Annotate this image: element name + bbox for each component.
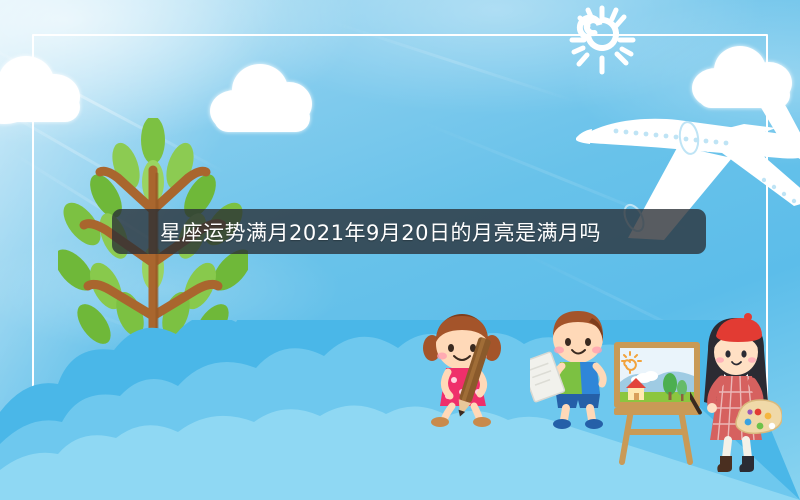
page-title: 星座运势满月2021年9月20日的月亮是满月吗: [112, 217, 601, 247]
illustration-banner: 星座运势满月2021年9月20日的月亮是满月吗: [0, 0, 800, 500]
girl-with-pencil: [418, 306, 510, 428]
girl-painter: [690, 310, 782, 478]
title-overlay-bar: 星座运势满月2021年9月20日的月亮是满月吗: [112, 209, 706, 254]
